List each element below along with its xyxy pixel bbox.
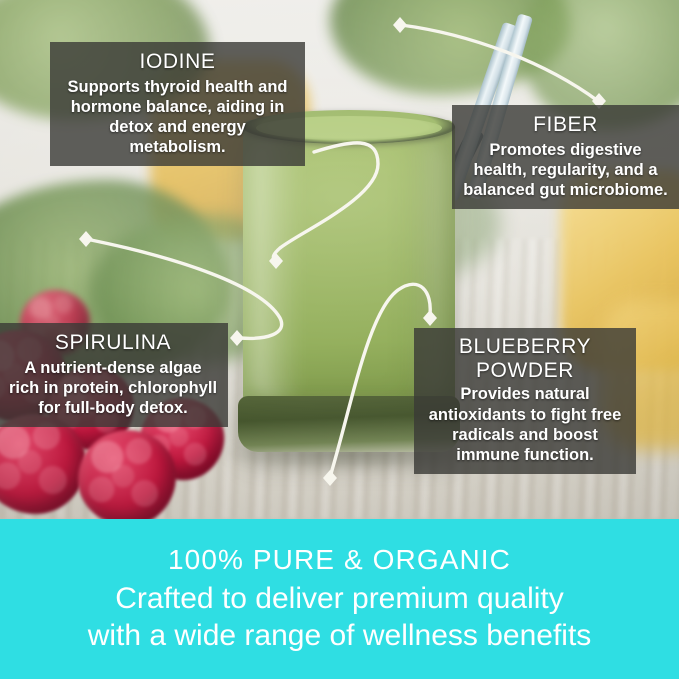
callout-spirulina: SPIRULINA A nutrient-dense algae rich in… (0, 323, 228, 427)
callout-iodine: IODINE Supports thyroid health and hormo… (50, 42, 305, 166)
callout-blueberry-description: Provides natural antioxidants to fight f… (424, 384, 626, 465)
callout-fiber: FIBER Promotes digestive health, regular… (452, 105, 679, 209)
callout-blueberry: BLUEBERRY POWDER Provides natural antiox… (414, 328, 636, 474)
callout-iodine-title: IODINE (60, 49, 295, 75)
promo-banner-subline: Crafted to deliver premium quality with … (82, 580, 598, 654)
promo-banner: 100% PURE & ORGANIC Crafted to deliver p… (0, 519, 679, 679)
promo-banner-headline: 100% PURE & ORGANIC (168, 544, 511, 576)
callout-fiber-title: FIBER (462, 112, 669, 138)
infographic-canvas: IODINE Supports thyroid health and hormo… (0, 0, 679, 679)
callout-spirulina-description: A nutrient-dense algae rich in protein, … (8, 358, 218, 418)
callout-blueberry-title: BLUEBERRY POWDER (424, 335, 626, 382)
callout-spirulina-title: SPIRULINA (8, 330, 218, 356)
callout-fiber-description: Promotes digestive health, regularity, a… (462, 140, 669, 200)
callout-iodine-description: Supports thyroid health and hormone bala… (60, 77, 295, 158)
